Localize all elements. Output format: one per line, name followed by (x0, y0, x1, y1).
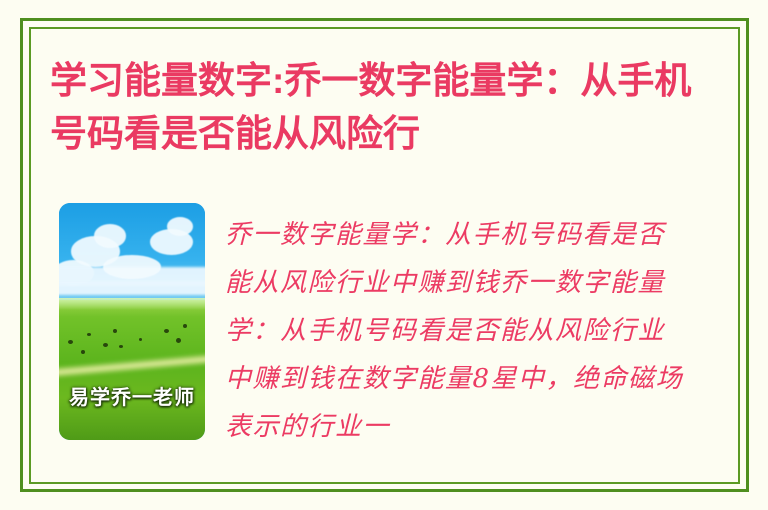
grazing-speck (113, 329, 117, 333)
cloud-band (59, 281, 205, 295)
cloud-shape (94, 224, 126, 248)
article-title: 学习能量数字:乔一数字能量学：从手机号码看是否能从风险行 (50, 54, 710, 160)
thumbnail-caption: 易学乔一老师 (59, 381, 205, 410)
article-body: 易学乔一老师 乔一数字能量学：从手机号码看是否能从风险行业中赚到钱乔一数字能量学… (59, 203, 709, 453)
grazing-speck (81, 350, 85, 354)
horizon-haze (59, 298, 205, 310)
grazing-speck (103, 343, 108, 347)
article-card: 学习能量数字:乔一数字能量学：从手机号码看是否能从风险行 (0, 0, 768, 510)
grazing-speck (164, 329, 169, 333)
article-thumbnail[interactable]: 易学乔一老师 (59, 203, 205, 440)
grazing-speck (176, 338, 181, 343)
card-content: 学习能量数字:乔一数字能量学：从手机号码看是否能从风险行 (0, 0, 768, 510)
grazing-speck (183, 324, 187, 328)
article-summary: 乔一数字能量学：从手机号码看是否能从风险行业中赚到钱乔一数字能量学：从手机号码看… (225, 211, 685, 451)
cloud-shape (103, 255, 161, 279)
